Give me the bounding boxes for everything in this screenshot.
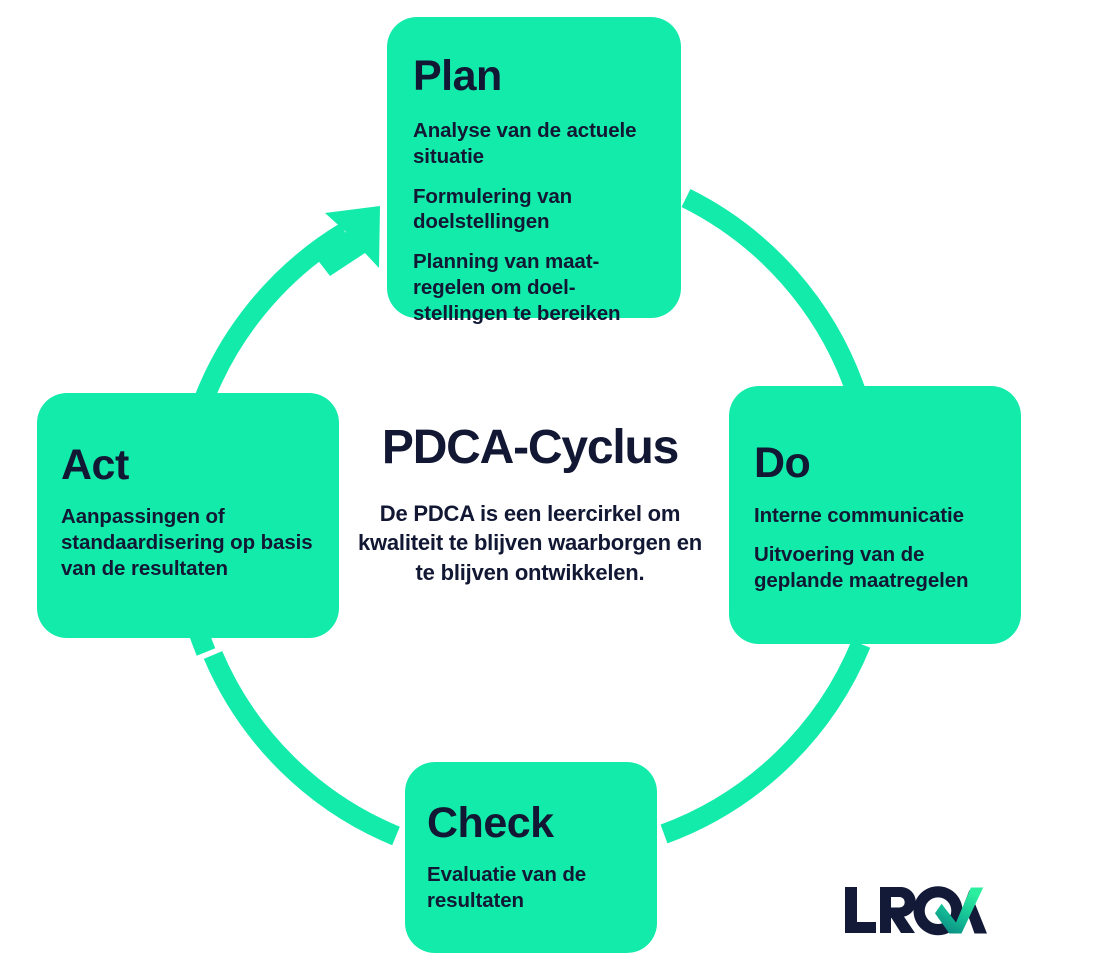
quadrant-do-item-2: Uitvoering van de geplande maatregelen — [754, 542, 994, 594]
quadrant-plan-items: Analyse van de actuele situatie Formuler… — [413, 118, 681, 327]
pdca-diagram: Plan Analyse van de actuele situatie For… — [0, 0, 1108, 977]
quadrant-plan[interactable]: Plan Analyse van de actuele situatie For… — [387, 17, 681, 318]
quadrant-act-items: Aanpassingen of standaardisering op basi… — [61, 504, 339, 581]
quadrant-plan-item-2: Formulering van doelstellingen — [413, 184, 649, 236]
diagram-title: PDCA-Cyclus — [349, 424, 711, 472]
arc-check-to-act — [213, 655, 396, 836]
quadrant-do-title: Do — [754, 442, 1021, 485]
quadrant-do[interactable]: Do Interne communicatie Uitvoering van d… — [729, 386, 1021, 644]
quadrant-act-title: Act — [61, 444, 339, 487]
quadrant-check-title: Check — [427, 802, 657, 845]
quadrant-check[interactable]: Check Evaluatie van de resultaten — [405, 762, 657, 953]
center-block: PDCA-Cyclus De PDCA is een leercirkel om… — [349, 424, 711, 587]
logo-letter-l — [845, 887, 876, 933]
quadrant-check-items: Evaluatie van de resultaten — [427, 862, 657, 914]
quadrant-plan-item-1: Analyse van de actuele situatie — [413, 118, 649, 170]
diagram-description: De PDCA is een leercirkel om kwaliteit t… — [349, 499, 711, 587]
quadrant-plan-item-3: Planning van maat­regelen om doel­stelli… — [413, 249, 649, 326]
quadrant-act-item-1: Aanpassingen of standaardisering op basi… — [61, 504, 329, 581]
logo-letter-r — [880, 887, 916, 933]
arc-do-to-check — [664, 644, 861, 834]
quadrant-check-item-1: Evaluatie van de resultaten — [427, 862, 627, 914]
quadrant-do-items: Interne communicatie Uitvoering van de g… — [754, 503, 1021, 593]
quadrant-plan-title: Plan — [413, 55, 681, 98]
arc-plan-to-do — [686, 198, 856, 392]
quadrant-do-item-1: Interne communicatie — [754, 503, 994, 529]
lrqa-logo — [843, 884, 989, 936]
quadrant-act[interactable]: Act Aanpassingen of standaardisering op … — [37, 393, 339, 638]
arrowhead-to-plan — [313, 206, 380, 276]
